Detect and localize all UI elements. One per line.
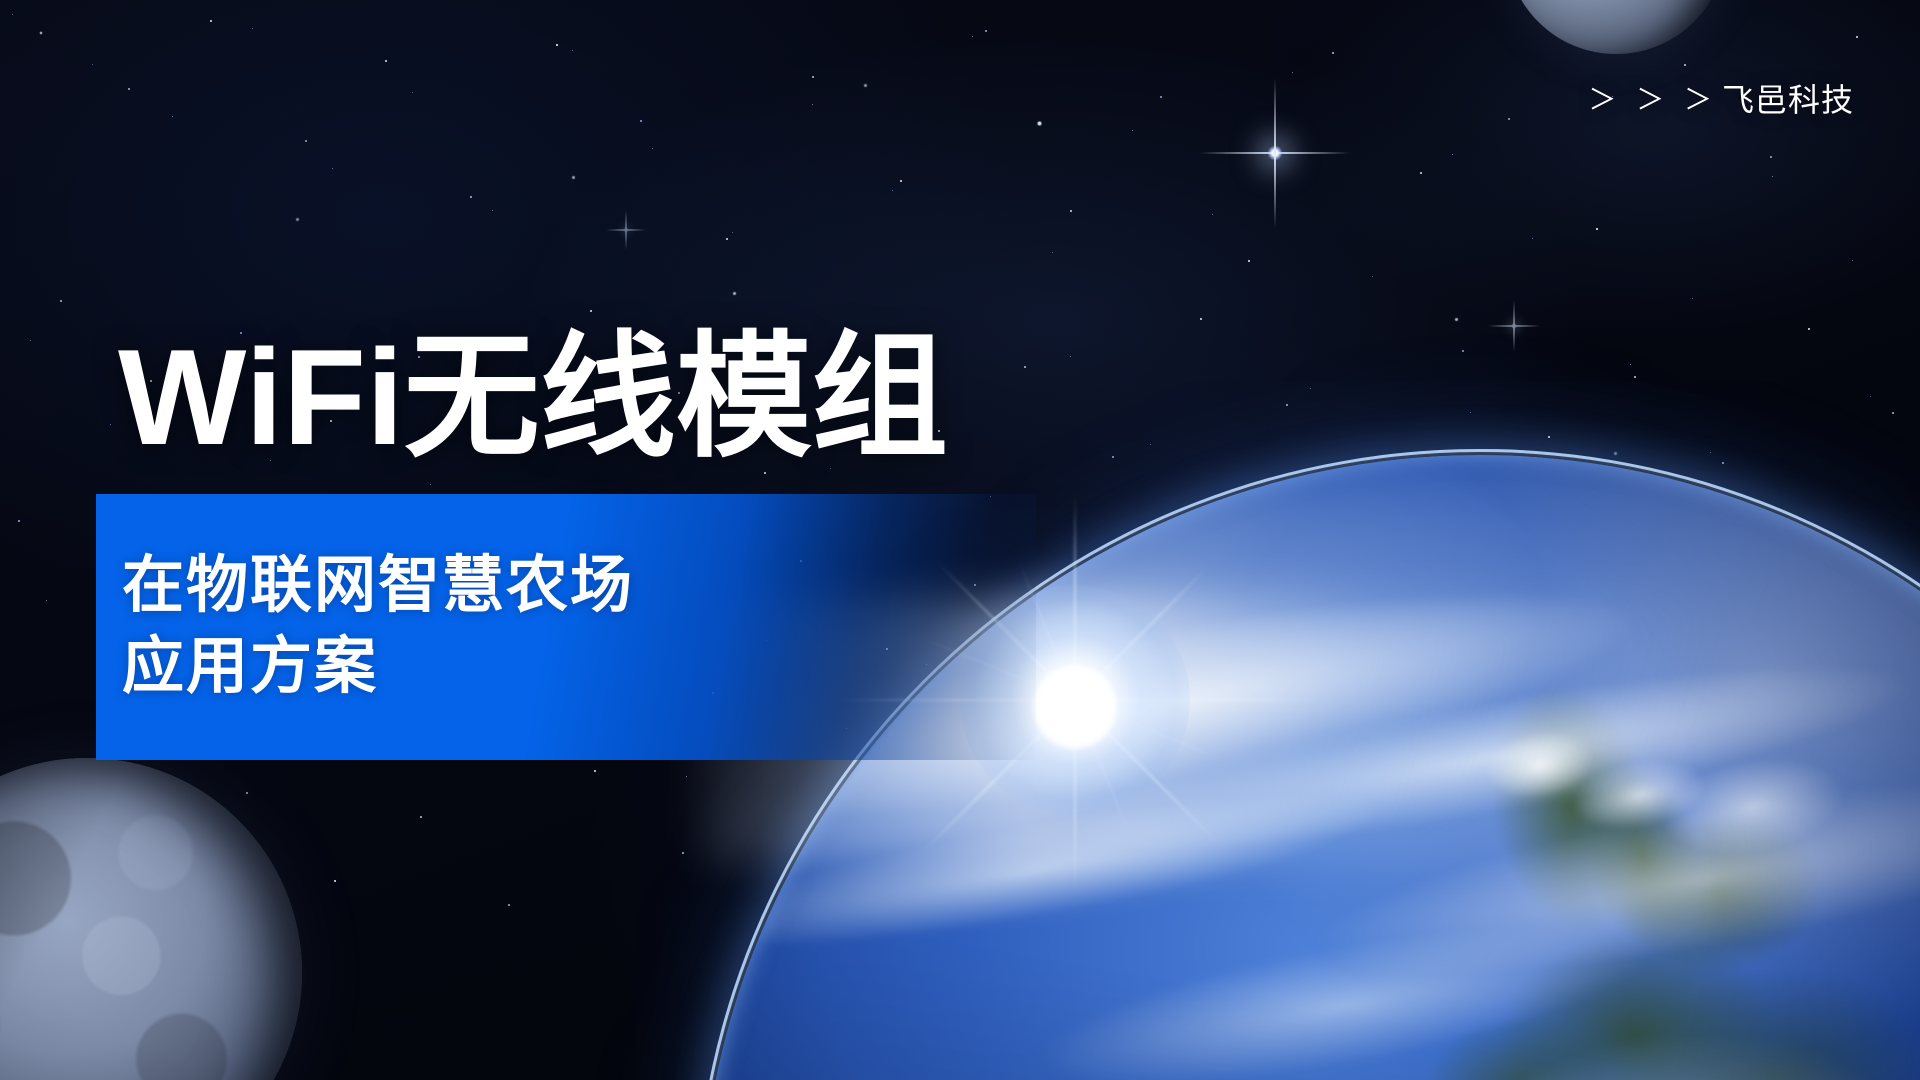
subtitle-line-1: 在物联网智慧农场 — [122, 546, 1036, 627]
subtitle-panel: 在物联网智慧农场 应用方案 — [96, 494, 1036, 760]
brand-logo: ＞ ＞ ＞ 飞邑科技 — [1588, 84, 1854, 116]
star-layer-large — [0, 0, 3, 3]
brand-name: 飞邑科技 — [1722, 84, 1854, 116]
page-title: WiFi无线模组 — [118, 325, 948, 469]
poster-canvas: ＞ ＞ ＞ 飞邑科技 WiFi无线模组 在物联网智慧农场 应用方案 — [0, 0, 1920, 1080]
chevron-right-icon: ＞ ＞ ＞ — [1588, 86, 1718, 114]
subtitle-line-2: 应用方案 — [122, 627, 1036, 708]
